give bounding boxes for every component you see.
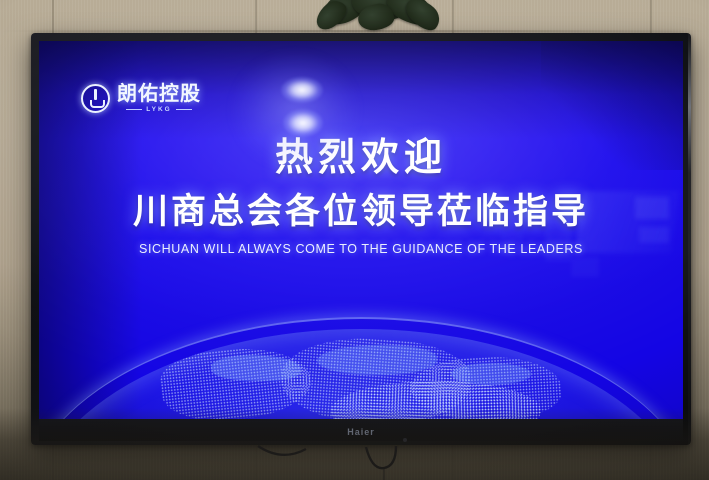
photo-vignette (0, 0, 709, 480)
photo-scene: 朗佑控股 LYKG 热烈欢迎 川商总会各位领导莅临指导 SICHUAN WILL… (0, 0, 709, 480)
